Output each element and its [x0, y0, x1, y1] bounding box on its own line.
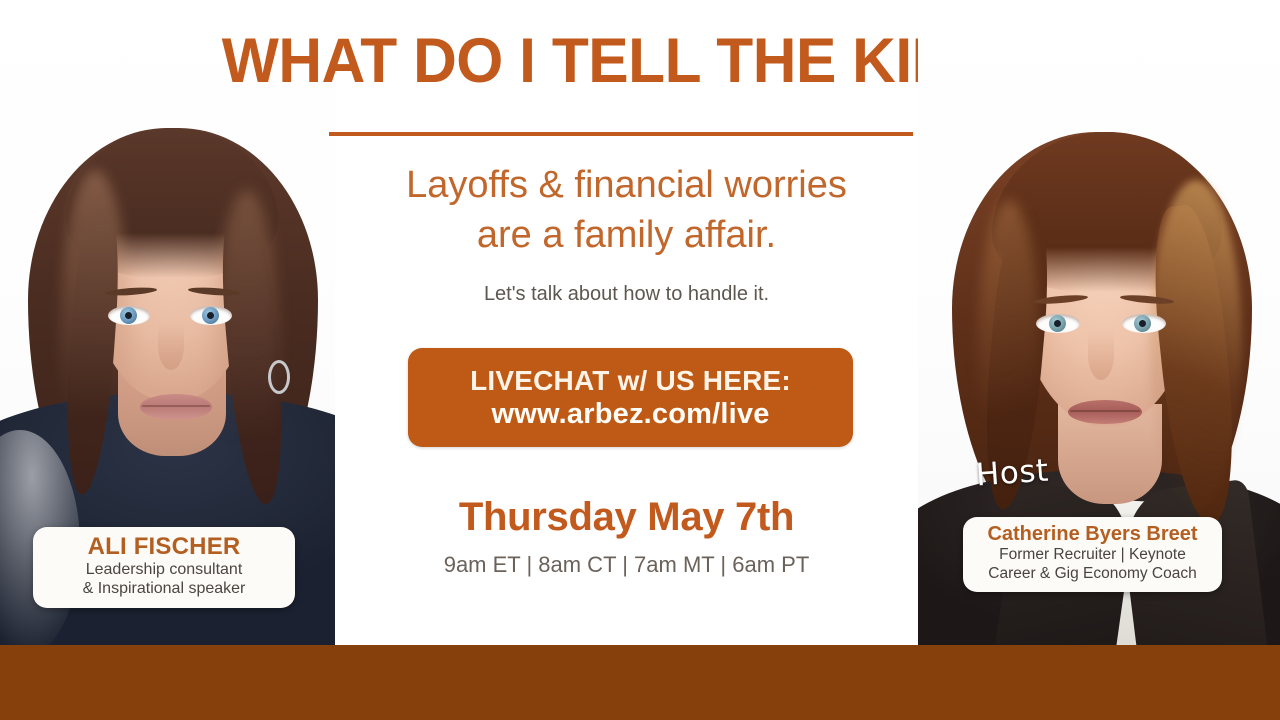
speaker-role-line1: Leadership consultant	[47, 560, 281, 580]
lip-line	[142, 405, 210, 407]
lip-line	[1070, 410, 1140, 412]
pupil-left	[125, 312, 132, 319]
video-tile-left-speaker: ALI FISCHER Leadership consultant & Insp…	[0, 0, 335, 645]
speaker-name: Catherine Byers Breet	[977, 524, 1208, 546]
tagline: Let's talk about how to handle it.	[335, 283, 918, 306]
livechat-cta-button[interactable]: LIVECHAT w/ US HERE: www.arbez.com/live	[408, 348, 853, 447]
center-content-panel: WHAT DO I TELL THE KIDS? Layoffs & finan…	[335, 0, 918, 645]
host-annotation: Host	[975, 453, 1050, 494]
promo-graphic: ALI FISCHER Leadership consultant & Insp…	[0, 0, 1280, 720]
hair-highlight-right	[1150, 180, 1242, 510]
cta-url: www.arbez.com/live	[491, 397, 769, 431]
pupil-right	[207, 312, 214, 319]
lips	[140, 394, 212, 420]
video-tile-right-speaker: Host Catherine Byers Breet Former Recrui…	[918, 0, 1280, 645]
nose	[158, 322, 184, 370]
speaker-name: ALI FISCHER	[47, 534, 281, 560]
hair-sheen-right	[215, 190, 279, 510]
divider-rule	[329, 132, 913, 136]
subheadline-line1: Layoffs & financial worries	[406, 164, 847, 206]
speaker-role-line2: Career & Gig Economy Coach	[977, 565, 1208, 584]
hoop-earring	[268, 360, 290, 394]
event-timezones: 9am ET | 8am CT | 7am MT | 6am PT	[335, 552, 918, 578]
lips	[1068, 400, 1142, 424]
speaker-role-line1: Former Recruiter | Keynote	[977, 546, 1208, 565]
pupil-left	[1054, 320, 1061, 327]
subheadline: Layoffs & financial worries are a family…	[335, 160, 918, 260]
speaker-name-card-right: Catherine Byers Breet Former Recruiter |…	[963, 517, 1222, 592]
footer-bar: ARBEZ™	[0, 645, 1280, 720]
speaker-role-line2: & Inspirational speaker	[47, 579, 281, 599]
subheadline-line2: are a family affair.	[335, 210, 918, 260]
pupil-right	[1139, 320, 1146, 327]
speaker-name-card-left: ALI FISCHER Leadership consultant & Insp…	[33, 527, 295, 608]
hair-sheen-left	[60, 170, 130, 500]
event-date: Thursday May 7th	[335, 495, 918, 540]
cta-label: LIVECHAT w/ US HERE:	[470, 364, 791, 397]
nose	[1088, 330, 1114, 380]
